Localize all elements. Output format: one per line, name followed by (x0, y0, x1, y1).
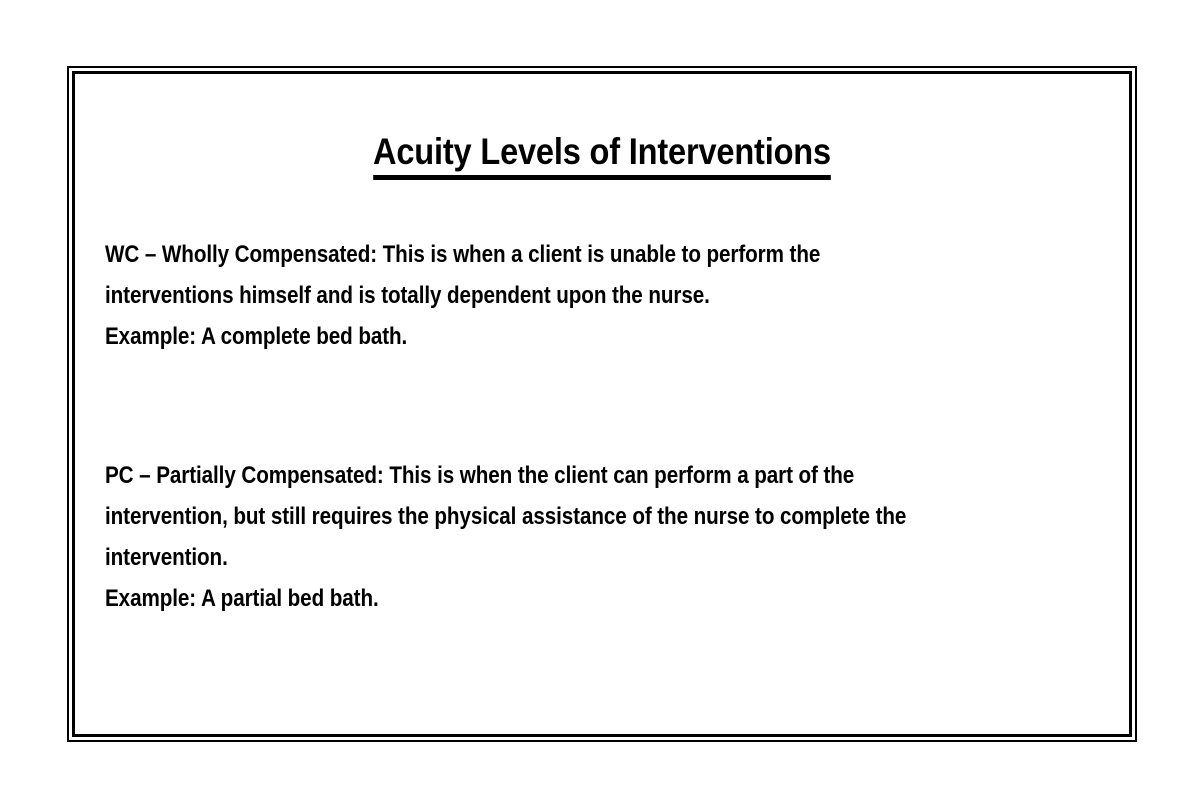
body-text-container: WC – Wholly Compensated: This is when a … (105, 234, 1113, 619)
pc-example-line: Example: A partial bed bath. (105, 578, 972, 619)
wc-line-2: interventions himself and is totally dep… (105, 275, 972, 316)
pc-line-2: intervention, but still requires the phy… (105, 496, 972, 537)
acuity-level-block-wc: WC – Wholly Compensated: This is when a … (105, 234, 1113, 357)
page-title: Acuity Levels of Interventions (138, 133, 1066, 180)
acuity-level-block-pc: PC – Partially Compensated: This is when… (105, 455, 1113, 619)
slide-inner-frame: Acuity Levels of Interventions WC – Whol… (72, 71, 1132, 737)
slide-outer-frame: Acuity Levels of Interventions WC – Whol… (67, 66, 1137, 742)
slide-content-area: Acuity Levels of Interventions WC – Whol… (75, 74, 1129, 734)
pc-line-1: PC – Partially Compensated: This is when… (105, 455, 972, 496)
page-title-text: Acuity Levels of Interventions (373, 133, 831, 180)
wc-line-1: WC – Wholly Compensated: This is when a … (105, 234, 972, 275)
pc-line-3: intervention. (105, 537, 972, 578)
wc-example-line: Example: A complete bed bath. (105, 316, 972, 357)
